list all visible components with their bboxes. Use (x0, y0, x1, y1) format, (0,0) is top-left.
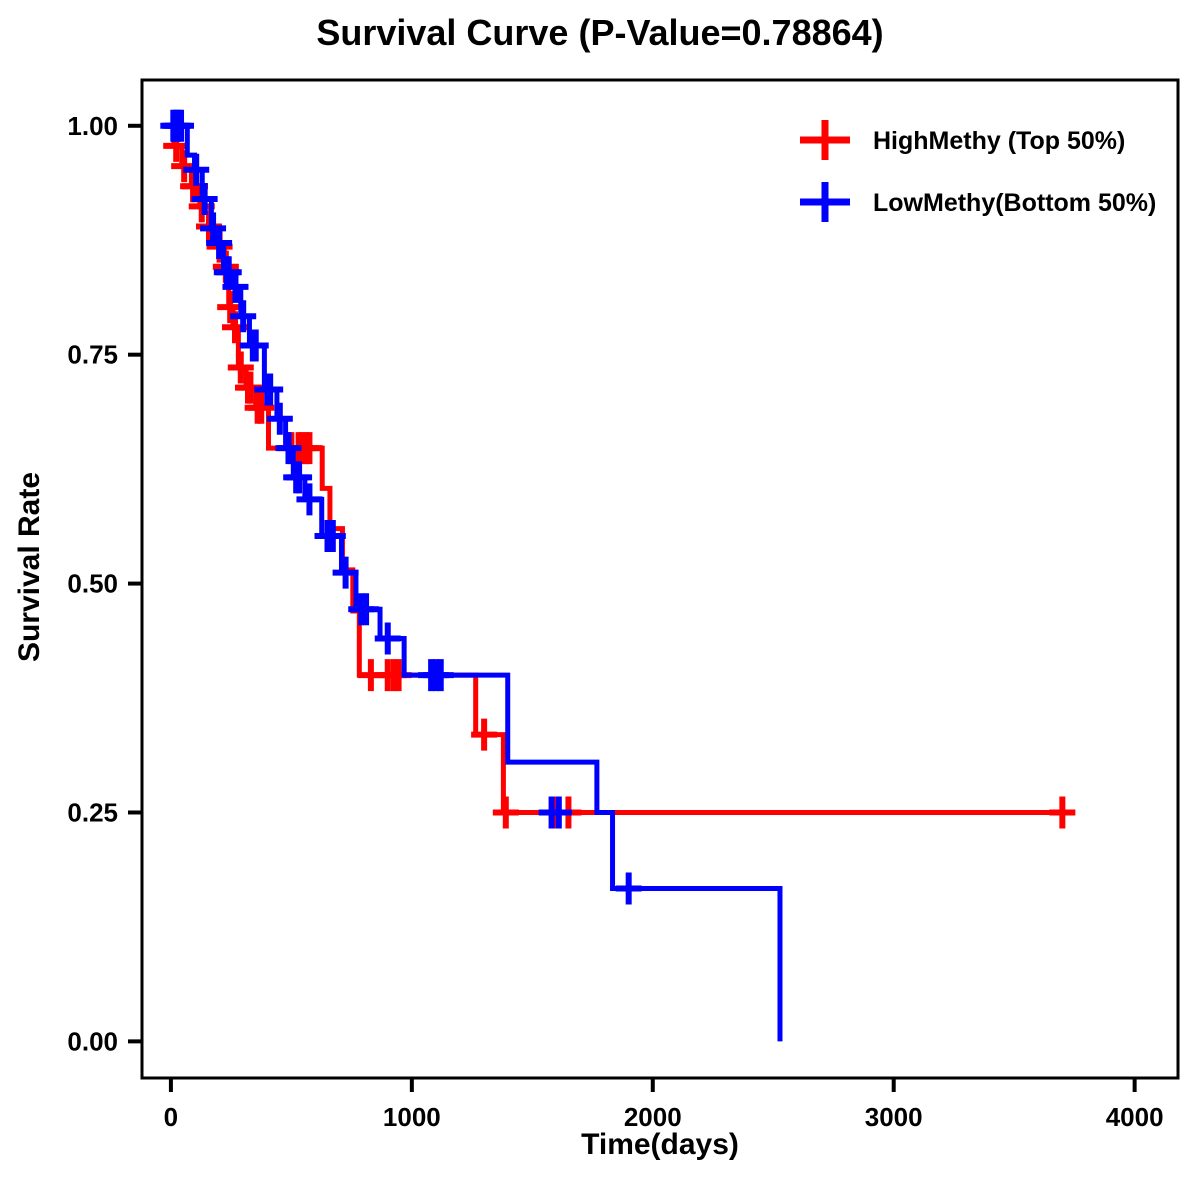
chart-legend: HighMethy (Top 50%)LowMethy(Bottom 50%) (800, 120, 1156, 222)
legend-item-high-methy[interactable]: HighMethy (Top 50%) (800, 120, 1125, 160)
y-tick-label: 0.75 (67, 340, 118, 370)
survival-curve-figure: Survival Curve (P-Value=0.78864) Surviva… (0, 0, 1200, 1200)
y-tick-label: 0.25 (67, 797, 118, 827)
step-line (171, 126, 1062, 813)
y-tick-label: 0.00 (67, 1026, 118, 1056)
x-tick-label: 0 (164, 1102, 178, 1132)
axis-frame (142, 80, 1178, 1078)
y-tick-label: 1.00 (67, 111, 118, 141)
x-tick-label: 4000 (1106, 1102, 1164, 1132)
series-layer (160, 110, 1075, 1042)
survival-curve-low-methy (160, 110, 780, 1042)
x-axis-ticks: 01000200030004000 (164, 1078, 1164, 1132)
x-tick-label: 3000 (865, 1102, 923, 1132)
x-tick-label: 1000 (383, 1102, 441, 1132)
y-axis-ticks: 0.000.250.500.751.00 (67, 111, 142, 1057)
censoring-marks (160, 110, 641, 905)
step-line (171, 126, 780, 1042)
plot-area: 01000200030004000 0.000.250.500.751.00 H… (0, 0, 1200, 1200)
legend-label: HighMethy (Top 50%) (873, 127, 1125, 155)
y-tick-label: 0.50 (67, 569, 118, 599)
legend-label: LowMethy(Bottom 50%) (873, 189, 1156, 217)
plot-frame (142, 80, 1178, 1078)
legend-item-low-methy[interactable]: LowMethy(Bottom 50%) (800, 182, 1156, 222)
x-tick-label: 2000 (624, 1102, 682, 1132)
